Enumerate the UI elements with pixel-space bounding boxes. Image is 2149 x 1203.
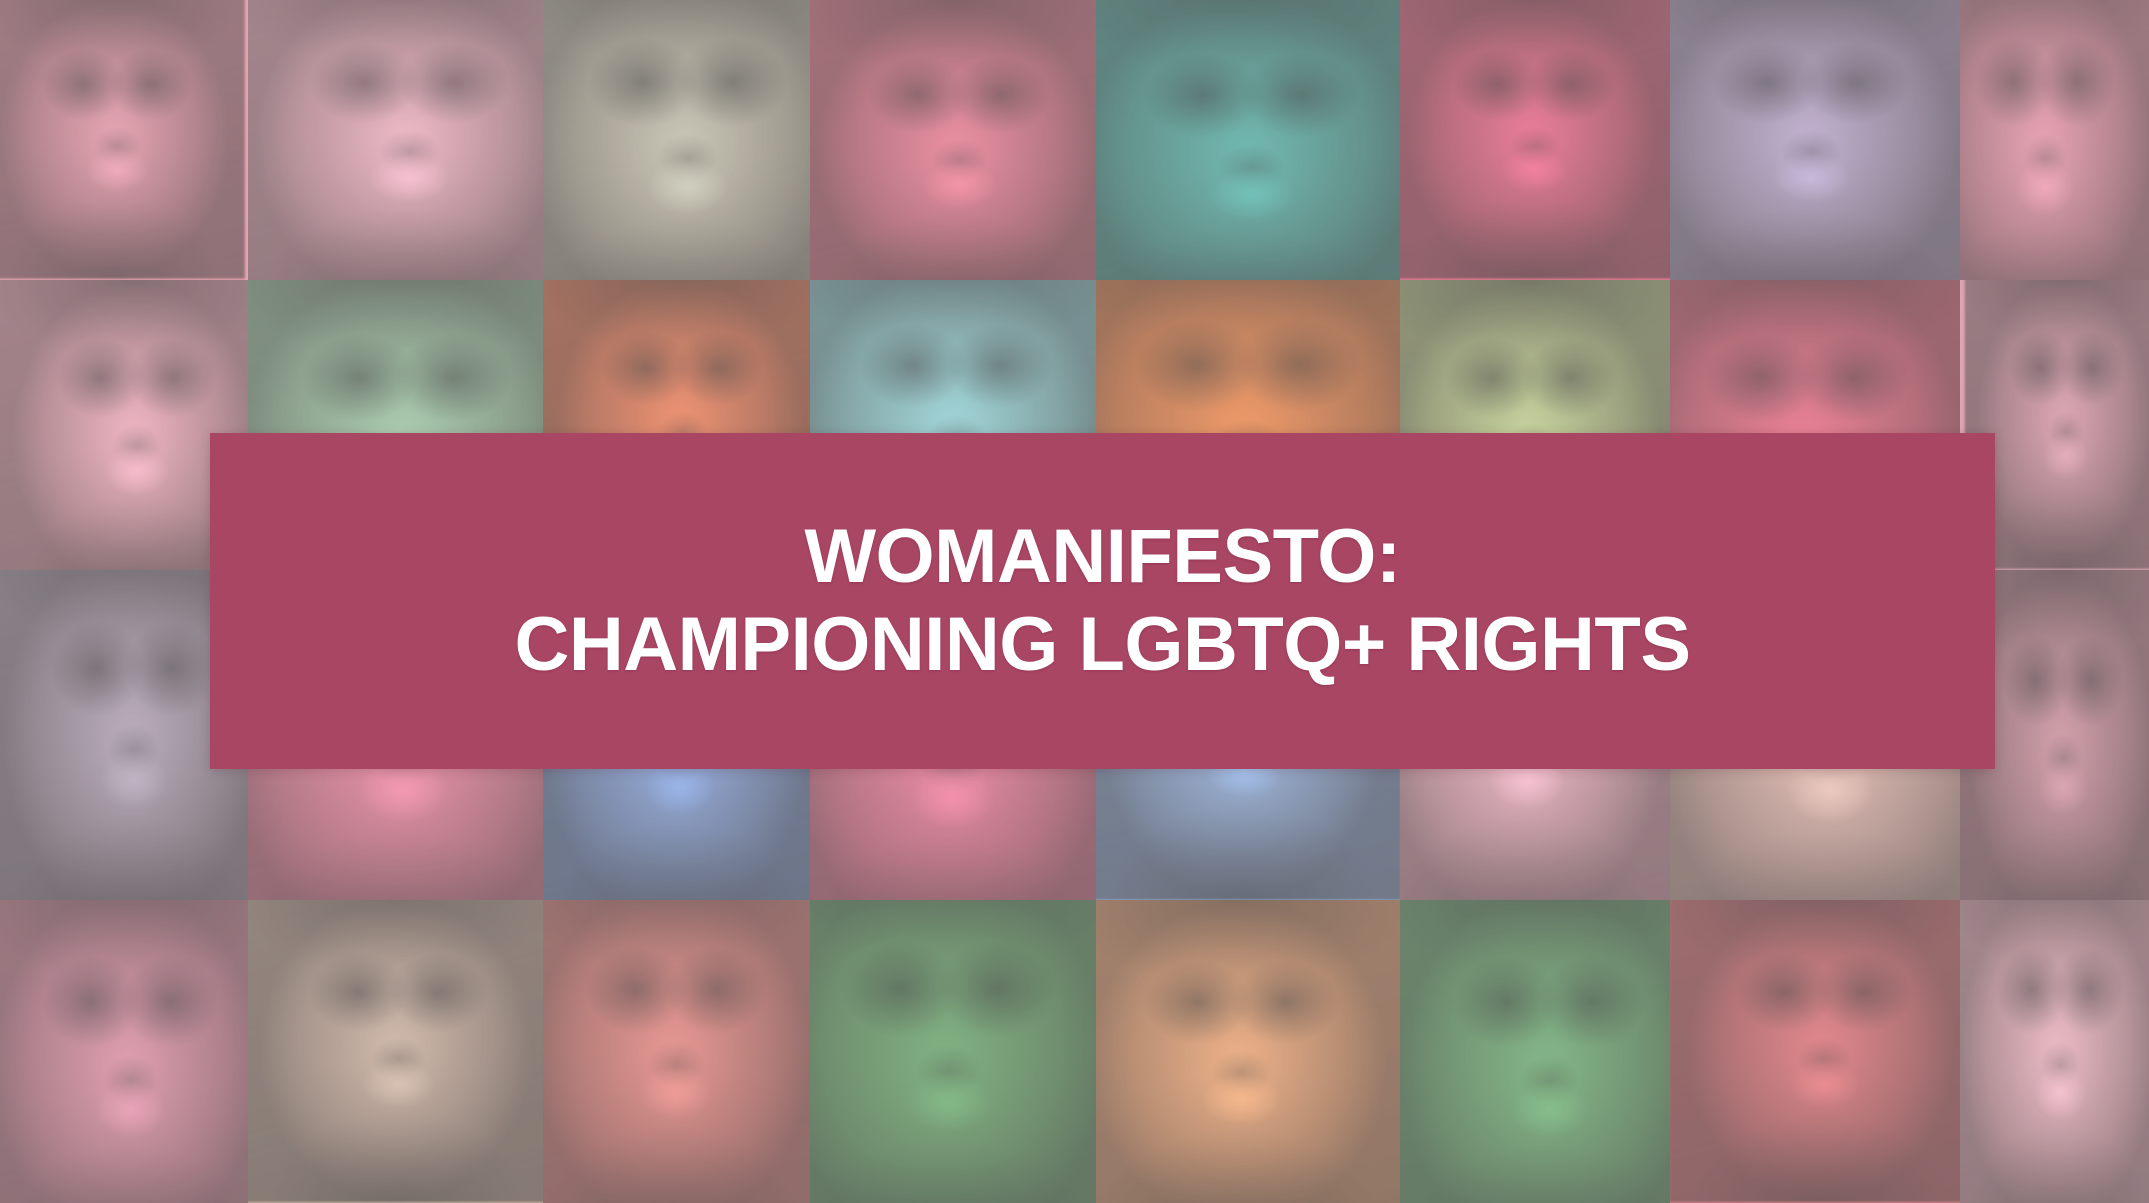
highlight-overlay bbox=[1096, 0, 1400, 280]
highlight-overlay bbox=[1670, 900, 1960, 1203]
mosaic-tile bbox=[0, 900, 248, 1203]
mosaic-tile bbox=[1670, 900, 1960, 1203]
mosaic-tile bbox=[543, 900, 810, 1203]
highlight-overlay bbox=[1096, 900, 1400, 1203]
mosaic-tile bbox=[1960, 900, 2149, 1203]
mosaic-tile bbox=[810, 0, 1096, 280]
highlight-overlay bbox=[248, 900, 543, 1203]
mosaic-tile bbox=[1096, 900, 1400, 1203]
highlight-overlay bbox=[1400, 0, 1670, 280]
mosaic-tile bbox=[810, 900, 1096, 1203]
title-line-primary: WOMANIFESTO: bbox=[804, 513, 1400, 601]
mosaic-tile bbox=[0, 0, 248, 280]
mosaic-tile bbox=[1400, 900, 1670, 1203]
mosaic-tile bbox=[1400, 0, 1670, 280]
highlight-overlay bbox=[0, 900, 248, 1203]
mosaic-tile bbox=[1960, 0, 2149, 280]
highlight-overlay bbox=[543, 900, 810, 1203]
highlight-overlay bbox=[543, 0, 810, 280]
highlight-overlay bbox=[248, 0, 543, 280]
highlight-overlay bbox=[1670, 0, 1960, 280]
title-line-secondary: CHAMPIONING LGBTQ+ RIGHTS bbox=[514, 601, 1690, 689]
mosaic-tile bbox=[248, 0, 543, 280]
highlight-overlay bbox=[1960, 0, 2149, 280]
promo-graphic: WOMANIFESTO: CHAMPIONING LGBTQ+ RIGHTS bbox=[0, 0, 2149, 1203]
highlight-overlay bbox=[1960, 900, 2149, 1203]
mosaic-tile bbox=[543, 0, 810, 280]
title-banner: WOMANIFESTO: CHAMPIONING LGBTQ+ RIGHTS bbox=[210, 433, 1995, 769]
mosaic-tile bbox=[248, 900, 543, 1203]
highlight-overlay bbox=[1400, 900, 1670, 1203]
mosaic-tile bbox=[1670, 0, 1960, 280]
highlight-overlay bbox=[810, 0, 1096, 280]
highlight-overlay bbox=[810, 900, 1096, 1203]
highlight-overlay bbox=[0, 0, 248, 280]
mosaic-tile bbox=[1096, 0, 1400, 280]
